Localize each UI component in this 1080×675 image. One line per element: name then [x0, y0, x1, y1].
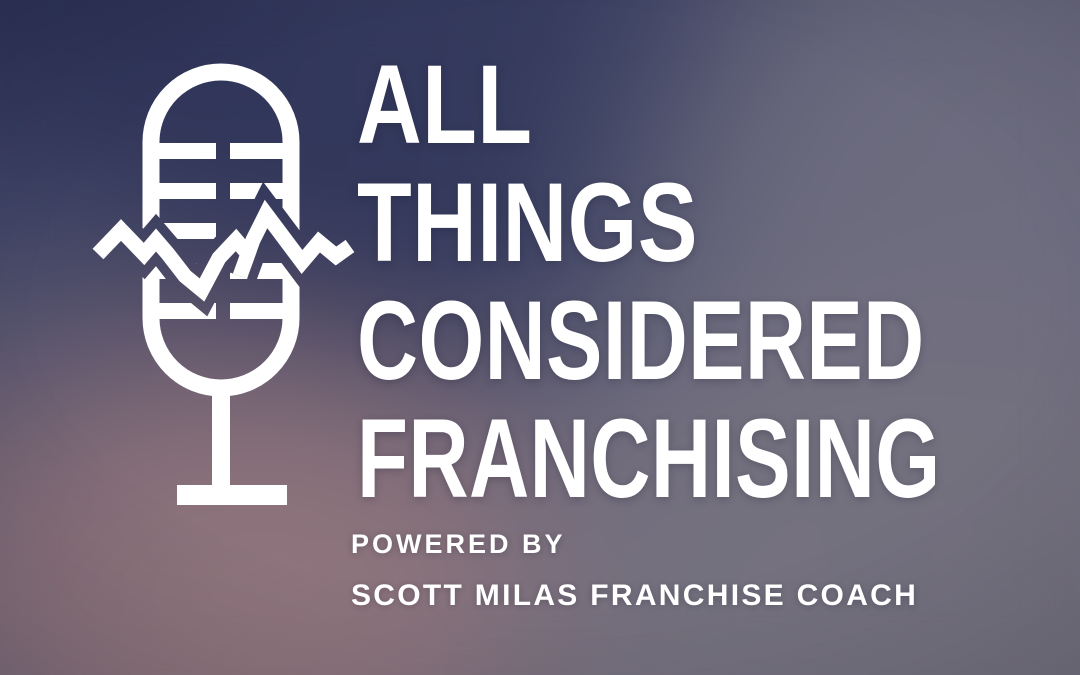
host-name-label: SCOTT MILAS FRANCHISE COACH	[351, 579, 991, 613]
powered-by-label: POWERED BY	[351, 528, 991, 560]
title-line-considered: CONSIDERED	[357, 282, 840, 400]
cover-art-canvas: ALL THINGS CONSIDERED FRANCHISING POWERE…	[0, 0, 1080, 675]
microphone-waveform-icon	[88, 40, 358, 520]
title-line-all: ALL	[357, 46, 869, 164]
wordmark: ALL THINGS CONSIDERED FRANCHISING	[357, 46, 997, 518]
title-line-things: THINGS	[357, 164, 869, 282]
cover-content: ALL THINGS CONSIDERED FRANCHISING POWERE…	[0, 0, 1080, 675]
credits-block: POWERED BY SCOTT MILAS FRANCHISE COACH	[351, 528, 991, 613]
title-line-franchising: FRANCHISING	[357, 400, 834, 518]
